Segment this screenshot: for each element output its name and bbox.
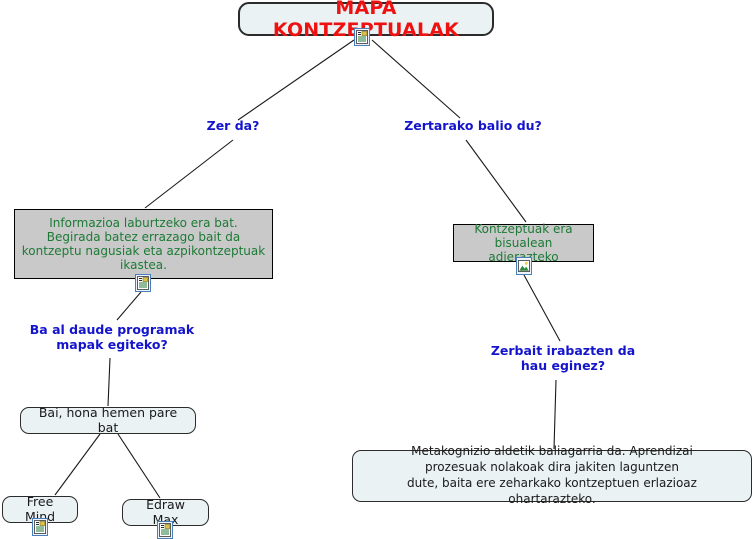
document-icon[interactable] xyxy=(32,518,48,536)
edge-label-zerbait-irabazten: Zerbait irabazten da hau eginez? xyxy=(478,343,648,374)
node-definition[interactable]: Informazioa laburtzeko era bat. Begirada… xyxy=(14,209,273,279)
document-icon[interactable] xyxy=(157,521,173,539)
node-programs-answer-label: Bai, hona hemen pare bat xyxy=(31,406,185,436)
edge-answer-to-edraw-max xyxy=(118,434,160,498)
edge-title-to-definition-lower xyxy=(145,140,233,208)
edge-title-to-definition-upper xyxy=(238,40,354,120)
edge-visual-to-question-upper xyxy=(524,275,560,341)
edge-label-zertarako-balio-du: Zertarako balio du? xyxy=(388,118,558,133)
edge-label-ba-al-daude-programak: Ba al daude programak mapak egiteko? xyxy=(16,322,208,353)
document-icon[interactable] xyxy=(354,28,370,46)
edge-label-zer-da: Zer da? xyxy=(178,118,288,133)
node-metacognition[interactable]: Metakognizio aldetik baliagarria da. Apr… xyxy=(352,450,752,502)
edge-title-to-visual-lower xyxy=(466,140,526,222)
edge-answer-to-free-mind xyxy=(55,434,100,495)
concept-map-canvas: MAPA KONTZEPTUALAK Zer da? Zertarako bal… xyxy=(0,0,755,539)
node-definition-label: Informazioa laburtzeko era bat. Begirada… xyxy=(22,216,265,273)
edge-definition-to-question-upper xyxy=(117,292,141,320)
picture-icon[interactable] xyxy=(516,257,532,275)
node-metacognition-label: Metakognizio aldetik baliagarria da. Apr… xyxy=(363,444,741,508)
edge-title-to-visual-upper xyxy=(372,40,460,118)
edge-question-to-metacognition xyxy=(554,380,556,449)
document-icon[interactable] xyxy=(135,274,151,292)
edge-question-to-answer xyxy=(108,358,110,406)
node-programs-answer[interactable]: Bai, hona hemen pare bat xyxy=(20,407,196,434)
